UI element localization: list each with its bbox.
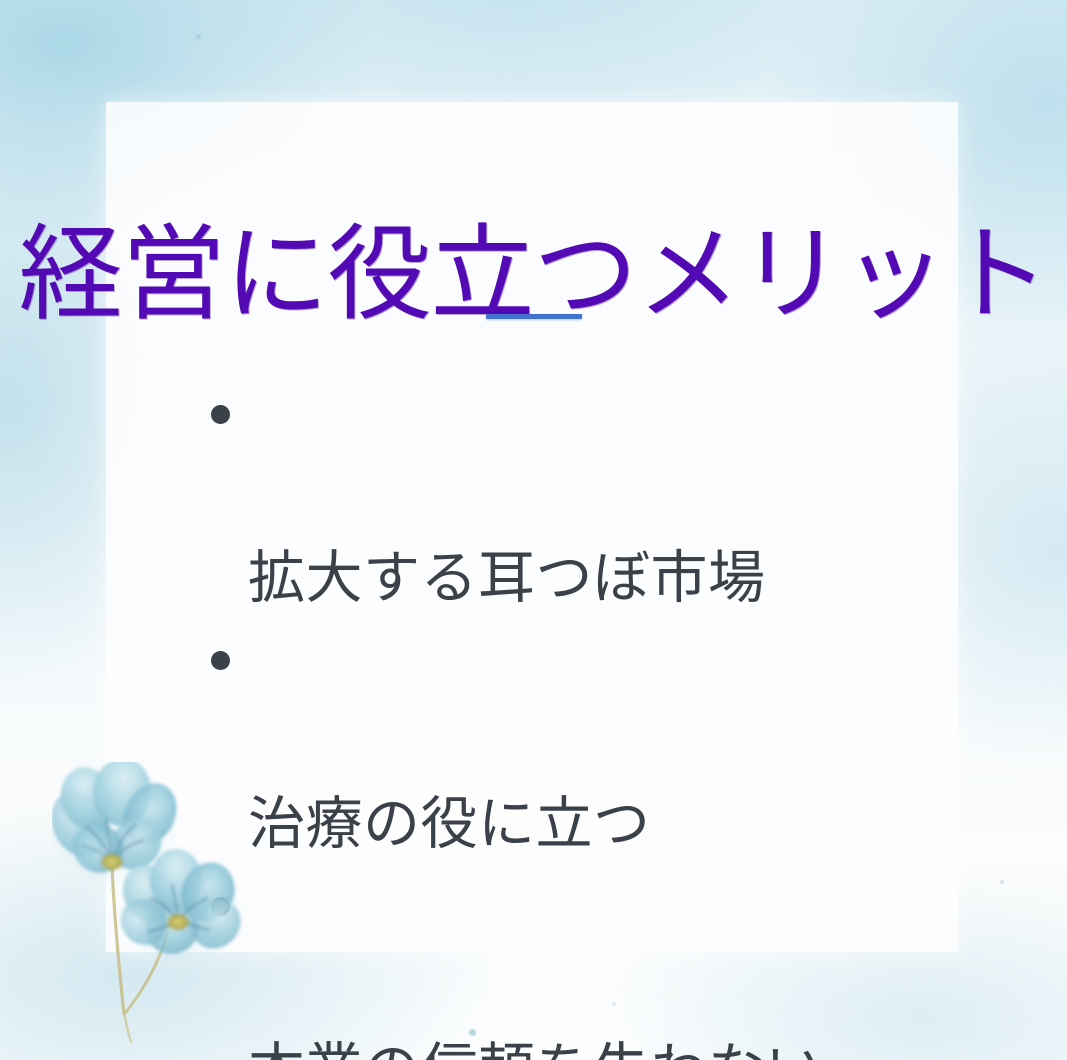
slide-canvas: 経営に役立つメリット 拡大する耳つぼ市場 治療の役に立つ 本業の信頼を失わない … [0, 0, 1067, 1060]
list-item-label: 本業の信頼を失わない [248, 1039, 823, 1060]
title-divider [486, 314, 582, 319]
benefits-list: 拡大する耳つぼ市場 治療の役に立つ 本業の信頼を失わない ハリの免許は不要 設備… [200, 374, 960, 1060]
list-item: 本業の信頼を失わない [200, 866, 960, 1060]
bullet-dot-icon [211, 897, 230, 916]
list-item-label: 拡大する耳つぼ市場 [248, 547, 766, 610]
bullet-dot-icon [211, 651, 230, 670]
bullet-dot-icon [211, 405, 230, 424]
list-item: 拡大する耳つぼ市場 [200, 374, 960, 620]
list-item-label: 治療の役に立つ [248, 793, 651, 856]
list-item: 治療の役に立つ [200, 620, 960, 866]
